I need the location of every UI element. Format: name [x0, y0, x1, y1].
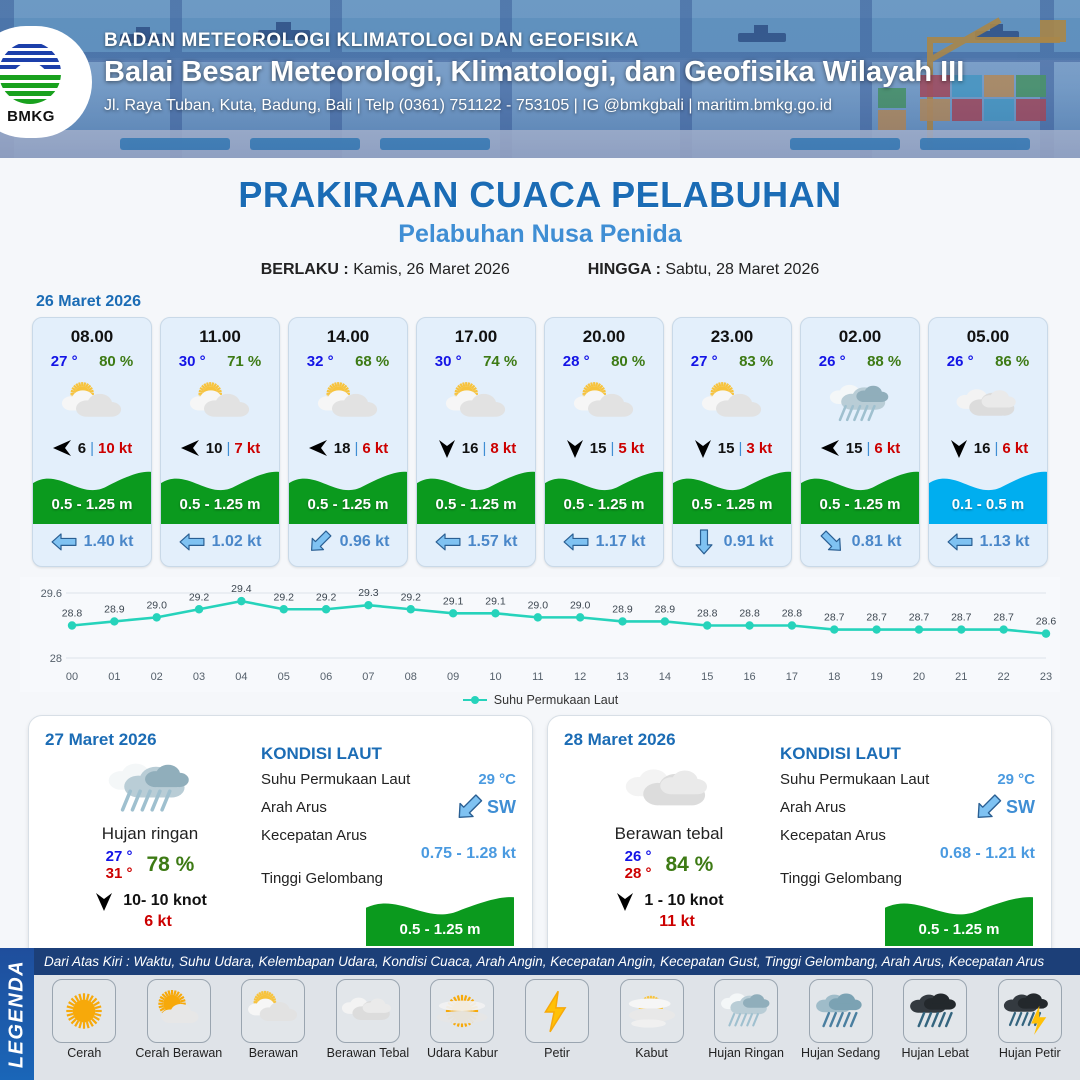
legend-icon-kabut — [620, 979, 684, 1043]
card-wind: 15 | 6 kt — [801, 438, 919, 458]
card-gust-speed: 5 kt — [618, 440, 644, 457]
legend-item-label: Hujan Lebat — [901, 1046, 968, 1060]
card-wind: 18 | 6 kt — [289, 438, 407, 458]
svg-text:21: 21 — [955, 671, 967, 683]
current-direction-icon — [947, 531, 973, 553]
daily-wave-value: 0.5 - 1.25 m — [885, 921, 1033, 938]
svg-text:11: 11 — [532, 671, 543, 683]
svg-text:29.2: 29.2 — [274, 591, 295, 603]
card-temperature: 26 ° — [819, 353, 846, 370]
svg-text:15: 15 — [701, 671, 713, 683]
legend-icon-hujan-ringan — [714, 979, 778, 1043]
wind-direction-icon — [308, 438, 330, 458]
card-temperature: 30 ° — [435, 353, 462, 370]
wave-label: Tinggi Gelombang — [780, 870, 1035, 887]
daily-weather-icon-hujan-ringan — [45, 752, 255, 822]
legend-item: Udara Kabur — [416, 979, 509, 1080]
card-wind-speed: 16 — [462, 440, 479, 457]
daily-forecast-card: 28 Maret 2026 Berawan tebal 26 ° 28 ° 84… — [547, 715, 1052, 965]
card-wind-speed: 16 — [974, 440, 991, 457]
card-wave: 0.5 - 1.25 m — [801, 462, 919, 524]
svg-text:29.0: 29.0 — [146, 599, 167, 611]
legend-item: Berawan Tebal — [322, 979, 415, 1080]
current-dir-label: Arah Arus — [261, 799, 327, 816]
svg-text:02: 02 — [151, 671, 163, 683]
legend-item-label: Cerah — [67, 1046, 101, 1060]
valid-from-value: Kamis, 26 Maret 2026 — [353, 261, 510, 278]
legend-item-label: Kabut — [635, 1046, 668, 1060]
legend-item-label: Petir — [544, 1046, 570, 1060]
sst-label: Suhu Permukaan Laut — [261, 771, 410, 788]
svg-text:13: 13 — [616, 671, 628, 683]
card-humidity: 71 % — [227, 353, 261, 370]
legend-item: Hujan Sedang — [794, 979, 887, 1080]
daily-temp-max: 31 ° — [106, 865, 133, 882]
card-time: 14.00 — [289, 327, 407, 347]
svg-text:28.7: 28.7 — [909, 612, 930, 624]
card-wind-separator: | — [226, 440, 230, 457]
valid-until-value: Sabtu, 28 Maret 2026 — [665, 261, 819, 278]
card-wind-separator: | — [354, 440, 358, 457]
svg-text:09: 09 — [447, 671, 459, 683]
sst-chart: 29.62828.80028.90129.00229.20329.40429.2… — [20, 577, 1060, 692]
svg-text:29.4: 29.4 — [231, 583, 252, 595]
card-temperature: 27 ° — [691, 353, 718, 370]
card-wind-speed: 15 — [846, 440, 863, 457]
validity-row: BERLAKU : Kamis, 26 Maret 2026 HINGGA : … — [0, 261, 1080, 279]
card-wave: 0.5 - 1.25 m — [673, 462, 791, 524]
svg-text:29.0: 29.0 — [570, 599, 591, 611]
legend-icon-hujan-sedang — [809, 979, 873, 1043]
card-wave-height: 0.1 - 0.5 m — [929, 496, 1047, 513]
svg-text:18: 18 — [828, 671, 840, 683]
svg-text:28.9: 28.9 — [655, 603, 676, 615]
hourly-card: 08.00 27 ° 80 % 6 | 10 kt 0.5 - 1.25 m — [32, 317, 152, 567]
card-humidity: 88 % — [867, 353, 901, 370]
svg-text:28.7: 28.7 — [951, 612, 972, 624]
svg-text:28.7: 28.7 — [993, 612, 1014, 624]
legend-item-label: Hujan Petir — [999, 1046, 1061, 1060]
card-current-speed: 1.02 kt — [212, 533, 262, 551]
card-temperature: 28 ° — [563, 353, 590, 370]
wind-direction-icon — [94, 890, 114, 912]
sea-conditions-title: KONDISI LAUT — [261, 744, 516, 764]
card-wind-speed: 18 — [334, 440, 351, 457]
svg-text:28.9: 28.9 — [104, 603, 125, 615]
daily-wind: 1 - 10 knot — [564, 891, 774, 911]
valid-until: HINGGA : Sabtu, 28 Maret 2026 — [588, 261, 820, 279]
card-wave-height: 0.5 - 1.25 m — [161, 496, 279, 513]
card-humidity: 86 % — [995, 353, 1029, 370]
legend-item-label: Udara Kabur — [427, 1046, 498, 1060]
chart-legend-label: Suhu Permukaan Laut — [494, 693, 618, 707]
card-current: 0.91 kt — [673, 524, 791, 560]
card-wave-height: 0.5 - 1.25 m — [545, 496, 663, 513]
daily-temp-min: 27 ° — [106, 848, 133, 865]
legend-item: Petir — [511, 979, 604, 1080]
daily-gust: 6 kt — [45, 913, 255, 931]
legend-item-label: Hujan Ringan — [708, 1046, 784, 1060]
legend-icon-berawan-tebal — [336, 979, 400, 1043]
card-current-speed: 1.57 kt — [468, 533, 518, 551]
daily-temp-max: 28 ° — [625, 865, 652, 882]
page-header: BMKG BADAN METEOROLOGI KLIMATOLOGI DAN G… — [0, 0, 1080, 158]
card-humidity: 80 % — [611, 353, 645, 370]
card-weather-icon-berawan-tebal — [929, 372, 1047, 434]
legend-marker-icon — [462, 695, 488, 705]
card-time: 17.00 — [417, 327, 535, 347]
card-wave-height: 0.5 - 1.25 m — [801, 496, 919, 513]
card-wind-separator: | — [90, 440, 94, 457]
current-speed-label: Kecepatan Arus — [261, 827, 516, 844]
legend-icon-berawan — [241, 979, 305, 1043]
svg-text:28.7: 28.7 — [824, 612, 845, 624]
sst-label: Suhu Permukaan Laut — [780, 771, 929, 788]
card-wave-height: 0.5 - 1.25 m — [289, 496, 407, 513]
card-wave-height: 0.5 - 1.25 m — [417, 496, 535, 513]
legend-bar: LEGENDA Dari Atas Kiri : Waktu, Suhu Uda… — [0, 948, 1080, 1080]
card-weather-icon-berawan — [673, 372, 791, 434]
wind-direction-icon — [820, 438, 842, 458]
daily-wind-range: 10- 10 knot — [123, 892, 207, 910]
card-current: 1.57 kt — [417, 524, 535, 560]
legend-icon-hujan-petir — [998, 979, 1062, 1043]
daily-wave: 0.5 - 1.25 m — [366, 888, 514, 946]
card-wave: 0.5 - 1.25 m — [289, 462, 407, 524]
hourly-card: 05.00 26 ° 86 % 16 | 6 kt 0.1 - 0.5 m — [928, 317, 1048, 567]
card-weather-icon-hujan-ringan — [801, 372, 919, 434]
daily-wind: 10- 10 knot — [45, 891, 255, 911]
sst-value: 29 °C — [478, 771, 516, 788]
card-weather-icon-berawan — [33, 372, 151, 434]
card-weather-icon-berawan — [161, 372, 279, 434]
valid-until-label: HINGGA : — [588, 261, 661, 278]
svg-text:16: 16 — [743, 671, 755, 683]
card-current-speed: 0.96 kt — [340, 533, 390, 551]
legend-item-label: Berawan — [249, 1046, 298, 1060]
sea-conditions-title: KONDISI LAUT — [780, 744, 1035, 764]
current-dir-label: Arah Arus — [780, 799, 846, 816]
legend-icon-hujan-lebat — [903, 979, 967, 1043]
svg-text:05: 05 — [278, 671, 290, 683]
svg-text:20: 20 — [913, 671, 925, 683]
card-wind: 16 | 8 kt — [417, 438, 535, 458]
card-gust-speed: 6 kt — [874, 440, 900, 457]
svg-text:28.8: 28.8 — [62, 608, 83, 620]
card-time: 23.00 — [673, 327, 791, 347]
current-speed-value: 0.75 - 1.28 kt — [261, 845, 516, 863]
valid-from-label: BERLAKU : — [261, 261, 349, 278]
legend-item: Cerah Berawan — [133, 979, 226, 1080]
card-current: 1.13 kt — [929, 524, 1047, 560]
svg-text:01: 01 — [108, 671, 120, 683]
legend-icon-cerah — [52, 979, 116, 1043]
svg-text:00: 00 — [66, 671, 78, 683]
daily-humidity: 84 % — [665, 853, 713, 877]
card-temperature: 27 ° — [51, 353, 78, 370]
hourly-card: 14.00 32 ° 68 % 18 | 6 kt 0.5 - 1.25 m — [288, 317, 408, 567]
card-gust-speed: 7 kt — [234, 440, 260, 457]
card-current-speed: 1.17 kt — [596, 533, 646, 551]
daily-temp-min: 26 ° — [625, 848, 652, 865]
card-current: 0.96 kt — [289, 524, 407, 560]
card-time: 11.00 — [161, 327, 279, 347]
card-time: 08.00 — [33, 327, 151, 347]
card-current-speed: 1.40 kt — [84, 533, 134, 551]
daily-condition: Hujan ringan — [45, 824, 255, 844]
daily-forecast-row: 27 Maret 2026 Hujan ringan 27 ° 31 ° 78 … — [0, 707, 1080, 965]
hourly-card: 17.00 30 ° 74 % 16 | 8 kt 0.5 - 1.25 m — [416, 317, 536, 567]
svg-text:28.8: 28.8 — [739, 608, 760, 620]
card-wind-speed: 6 — [78, 440, 86, 457]
card-gust-speed: 8 kt — [490, 440, 516, 457]
legend-item: Berawan — [227, 979, 320, 1080]
current-speed-label: Kecepatan Arus — [780, 827, 1035, 844]
daily-wind-range: 1 - 10 knot — [644, 892, 723, 910]
wind-direction-icon — [615, 890, 635, 912]
svg-text:12: 12 — [574, 671, 586, 683]
legend-item: Hujan Petir — [983, 979, 1076, 1080]
card-gust-speed: 6 kt — [362, 440, 388, 457]
legend-side-text: LEGENDA — [6, 960, 29, 1068]
card-wave: 0.5 - 1.25 m — [417, 462, 535, 524]
legend-item-label: Cerah Berawan — [135, 1046, 222, 1060]
chart-legend: Suhu Permukaan Laut — [0, 693, 1080, 707]
card-temperature: 26 ° — [947, 353, 974, 370]
card-wind: 10 | 7 kt — [161, 438, 279, 458]
card-wind-separator: | — [482, 440, 486, 457]
svg-text:29.1: 29.1 — [443, 595, 464, 607]
card-current-speed: 1.13 kt — [980, 533, 1030, 551]
contact-line: Jl. Raya Tuban, Kuta, Badung, Bali | Tel… — [104, 97, 1004, 115]
card-humidity: 80 % — [99, 353, 133, 370]
current-direction-icon — [693, 529, 715, 555]
card-time: 05.00 — [929, 327, 1047, 347]
current-speed-value: 0.68 - 1.21 kt — [780, 845, 1035, 863]
card-wave: 0.5 - 1.25 m — [545, 462, 663, 524]
hourly-card: 20.00 28 ° 80 % 15 | 5 kt 0.5 - 1.25 m — [544, 317, 664, 567]
card-current: 1.17 kt — [545, 524, 663, 560]
card-temperature: 30 ° — [179, 353, 206, 370]
current-direction-icon — [303, 525, 337, 559]
daily-forecast-card: 27 Maret 2026 Hujan ringan 27 ° 31 ° 78 … — [28, 715, 533, 965]
svg-text:29.3: 29.3 — [358, 587, 379, 599]
bmkg-logo-mark — [0, 40, 66, 110]
wind-direction-icon — [52, 438, 74, 458]
svg-text:28: 28 — [50, 653, 62, 665]
wind-direction-icon — [693, 437, 713, 459]
svg-text:28.8: 28.8 — [782, 608, 803, 620]
current-direction-icon — [815, 525, 849, 559]
page-subtitle: Pelabuhan Nusa Penida — [0, 220, 1080, 249]
card-wind-speed: 15 — [590, 440, 607, 457]
hourly-forecast-row: 08.00 27 ° 80 % 6 | 10 kt 0.5 - 1.25 m — [0, 317, 1080, 567]
legend-item: Cerah — [38, 979, 131, 1080]
page-title: PRAKIRAAN CUACA PELABUHAN — [0, 174, 1080, 216]
legend-icon-udara-kabur — [430, 979, 494, 1043]
svg-text:29.2: 29.2 — [401, 591, 422, 603]
card-gust-speed: 6 kt — [1002, 440, 1028, 457]
svg-text:29.2: 29.2 — [189, 591, 210, 603]
bmkg-logo-text: BMKG — [0, 108, 68, 125]
svg-text:07: 07 — [362, 671, 374, 683]
svg-text:04: 04 — [235, 671, 247, 683]
valid-from: BERLAKU : Kamis, 26 Maret 2026 — [261, 261, 510, 279]
svg-text:29.6: 29.6 — [41, 588, 62, 600]
svg-text:03: 03 — [193, 671, 205, 683]
card-wind: 15 | 3 kt — [673, 438, 791, 458]
daily-wave: 0.5 - 1.25 m — [885, 888, 1033, 946]
current-dir-value: SW — [1006, 797, 1035, 818]
card-humidity: 83 % — [739, 353, 773, 370]
daily-condition: Berawan tebal — [564, 824, 774, 844]
card-wave-height: 0.5 - 1.25 m — [673, 496, 791, 513]
svg-text:29.0: 29.0 — [528, 599, 549, 611]
svg-text:19: 19 — [870, 671, 882, 683]
card-wave: 0.5 - 1.25 m — [161, 462, 279, 524]
card-current: 1.02 kt — [161, 524, 279, 560]
legend-item: Hujan Ringan — [700, 979, 793, 1080]
current-direction-icon — [435, 531, 461, 553]
daily-date: 28 Maret 2026 — [564, 730, 774, 750]
card-wave: 0.5 - 1.25 m — [33, 462, 151, 524]
svg-text:06: 06 — [320, 671, 332, 683]
legend-side-label: LEGENDA — [0, 948, 34, 1080]
svg-text:22: 22 — [998, 671, 1010, 683]
card-wind-separator: | — [994, 440, 998, 457]
hourly-card: 02.00 26 ° 88 % 15 | 6 kt 0.5 - 1.25 m — [800, 317, 920, 567]
card-wind: 6 | 10 kt — [33, 438, 151, 458]
card-wave: 0.1 - 0.5 m — [929, 462, 1047, 524]
sst-value: 29 °C — [997, 771, 1035, 788]
svg-text:23: 23 — [1040, 671, 1052, 683]
title-block: PRAKIRAAN CUACA PELABUHAN Pelabuhan Nusa… — [0, 174, 1080, 279]
card-weather-icon-berawan — [545, 372, 663, 434]
card-wind: 16 | 6 kt — [929, 438, 1047, 458]
current-direction-icon — [51, 531, 77, 553]
card-gust-speed: 10 kt — [98, 440, 132, 457]
svg-text:14: 14 — [659, 671, 671, 683]
wave-label: Tinggi Gelombang — [261, 870, 516, 887]
current-direction-icon — [968, 788, 1007, 827]
card-time: 02.00 — [801, 327, 919, 347]
svg-text:28.8: 28.8 — [697, 608, 718, 620]
svg-text:29.1: 29.1 — [485, 595, 506, 607]
card-current: 0.81 kt — [801, 524, 919, 560]
card-humidity: 68 % — [355, 353, 389, 370]
card-wind-speed: 15 — [718, 440, 735, 457]
legend-item: Hujan Lebat — [889, 979, 982, 1080]
daily-humidity: 78 % — [146, 853, 194, 877]
wind-direction-icon — [565, 437, 585, 459]
svg-text:08: 08 — [405, 671, 417, 683]
current-direction-icon — [449, 788, 488, 827]
svg-text:29.2: 29.2 — [316, 591, 337, 603]
card-wave-height: 0.5 - 1.25 m — [33, 496, 151, 513]
agency-name: BADAN METEOROLOGI KLIMATOLOGI DAN GEOFIS… — [104, 30, 1004, 52]
svg-text:17: 17 — [786, 671, 798, 683]
daily-wave-value: 0.5 - 1.25 m — [366, 921, 514, 938]
office-name: Balai Besar Meteorologi, Klimatologi, da… — [104, 56, 1004, 89]
legend-item-label: Berawan Tebal — [327, 1046, 409, 1060]
card-wind-separator: | — [738, 440, 742, 457]
wind-direction-icon — [437, 437, 457, 459]
legend-icon-petir — [525, 979, 589, 1043]
card-gust-speed: 3 kt — [746, 440, 772, 457]
card-wind: 15 | 5 kt — [545, 438, 663, 458]
legend-note: Dari Atas Kiri : Waktu, Suhu Udara, Kele… — [34, 948, 1080, 975]
card-current: 1.40 kt — [33, 524, 151, 560]
wind-direction-icon — [949, 437, 969, 459]
svg-text:28.6: 28.6 — [1036, 616, 1057, 628]
svg-text:28.7: 28.7 — [866, 612, 887, 624]
daily-date: 27 Maret 2026 — [45, 730, 255, 750]
svg-text:10: 10 — [489, 671, 501, 683]
legend-items: Cerah Cerah Berawan Berawan Berawan — [34, 975, 1080, 1080]
current-direction-icon — [563, 531, 589, 553]
daily-gust: 11 kt — [564, 913, 774, 931]
hourly-card: 11.00 30 ° 71 % 10 | 7 kt 0.5 - 1.25 m — [160, 317, 280, 567]
legend-item: Kabut — [605, 979, 698, 1080]
card-wind-separator: | — [866, 440, 870, 457]
card-temperature: 32 ° — [307, 353, 334, 370]
wind-direction-icon — [180, 438, 202, 458]
hourly-date-label: 26 Maret 2026 — [36, 293, 1080, 311]
card-current-speed: 0.81 kt — [852, 533, 902, 551]
card-wind-speed: 10 — [206, 440, 223, 457]
legend-item-label: Hujan Sedang — [801, 1046, 880, 1060]
legend-icon-cerah-berawan — [147, 979, 211, 1043]
card-time: 20.00 — [545, 327, 663, 347]
card-weather-icon-berawan — [289, 372, 407, 434]
card-current-speed: 0.91 kt — [724, 533, 774, 551]
hourly-card: 23.00 27 ° 83 % 15 | 3 kt 0.5 - 1.25 m — [672, 317, 792, 567]
card-weather-icon-berawan — [417, 372, 535, 434]
card-wind-separator: | — [610, 440, 614, 457]
svg-text:28.9: 28.9 — [612, 603, 633, 615]
daily-weather-icon-berawan-tebal — [564, 752, 774, 822]
card-humidity: 74 % — [483, 353, 517, 370]
current-dir-value: SW — [487, 797, 516, 818]
current-direction-icon — [179, 531, 205, 553]
